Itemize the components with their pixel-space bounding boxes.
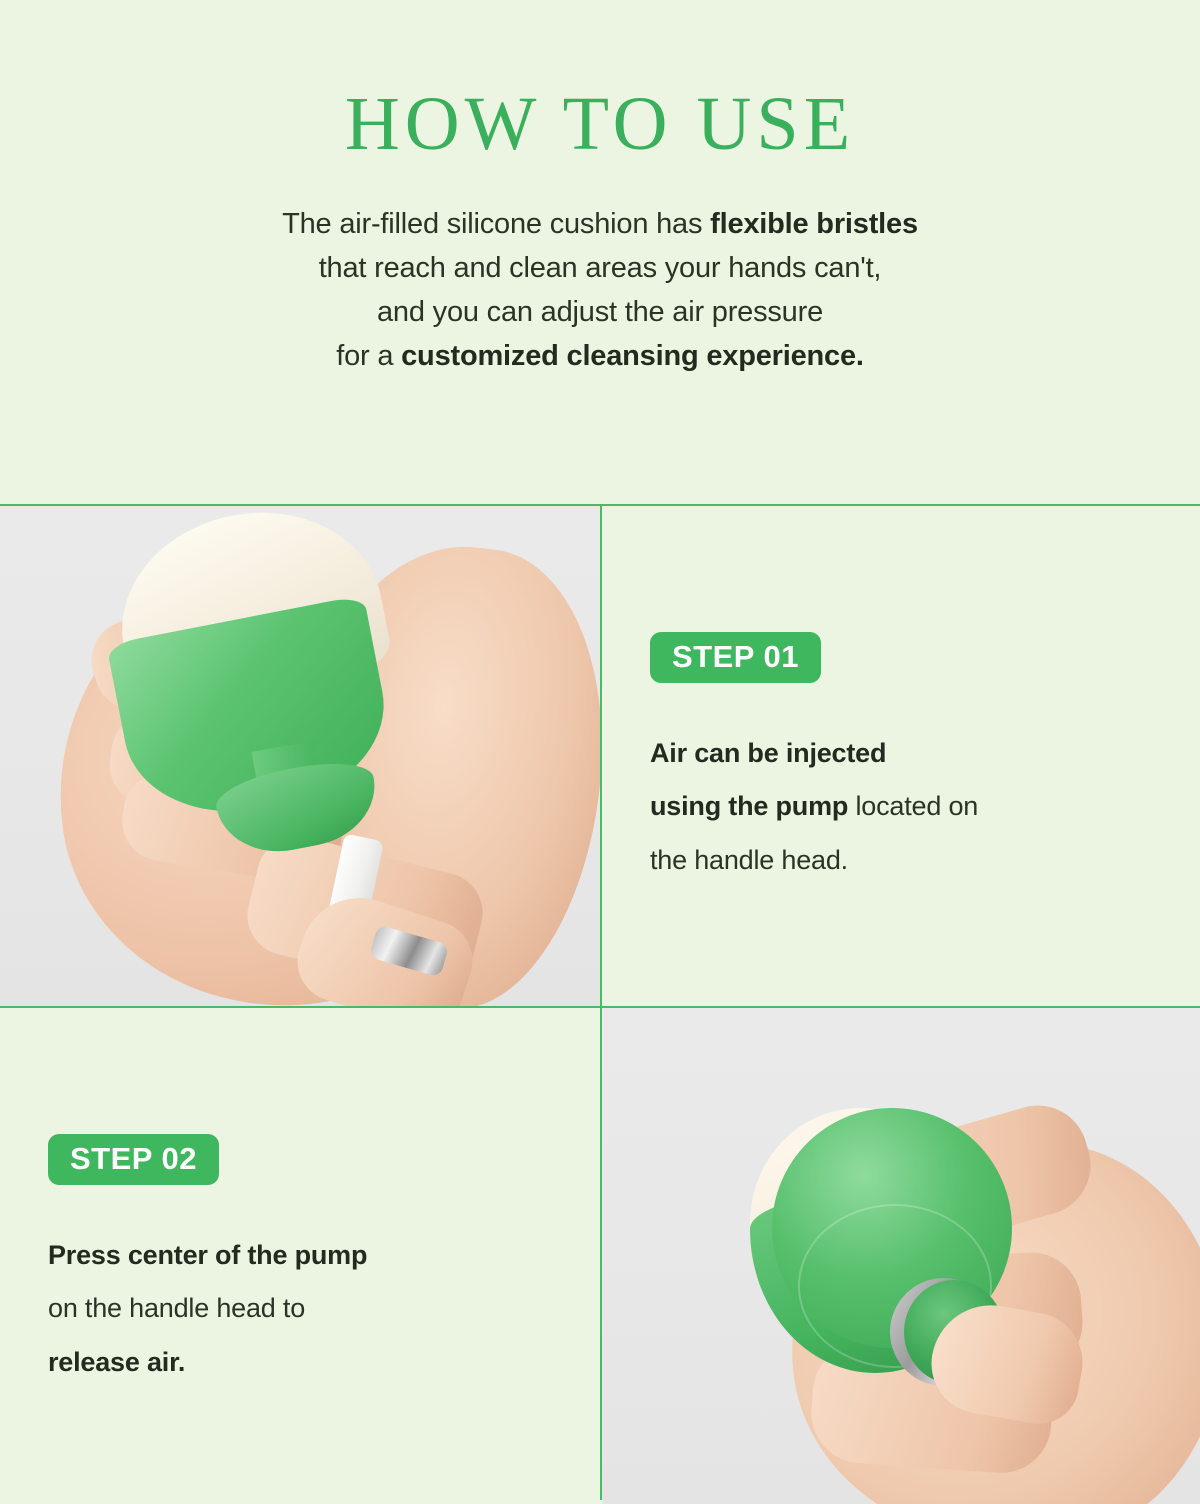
- step-02-badge: STEP 02: [48, 1134, 219, 1185]
- step-02-description: Press center of the pump on the handle h…: [48, 1185, 367, 1389]
- step-02-block: STEP 02 Press center of the pump on the …: [48, 1134, 367, 1389]
- step-01-line-2-bold: using the pump: [650, 791, 848, 821]
- step-01-block: STEP 01 Air can be injected using the pu…: [650, 632, 978, 887]
- step-02-line-1: Press center of the pump: [48, 1240, 367, 1270]
- intro-line-3: and you can adjust the air pressure: [377, 296, 823, 328]
- how-to-use-page: HOW TO USE The air-filled silicone cushi…: [0, 0, 1200, 1500]
- intro-line-4-regular: for a: [336, 340, 401, 372]
- steps-grid: STEP 01 Air can be injected using the pu…: [0, 504, 1200, 1500]
- intro-line-1-regular: The air-filled silicone cushion has: [282, 208, 710, 240]
- step-01-line-3: the handle head.: [650, 845, 848, 875]
- step-02-photo: [602, 1008, 1200, 1504]
- step-01-line-1: Air can be injected: [650, 738, 886, 768]
- header-section: HOW TO USE The air-filled silicone cushi…: [0, 0, 1200, 504]
- step-01-photo-stage: [0, 506, 600, 1006]
- step-02-copy: STEP 02 Press center of the pump on the …: [0, 1008, 600, 1504]
- step-02-line-2: on the handle head to: [48, 1293, 305, 1323]
- step-01-description: Air can be injected using the pump locat…: [650, 683, 978, 887]
- step-02-line-3: release air.: [48, 1347, 185, 1377]
- intro-line-1-bold: flexible bristles: [710, 208, 918, 240]
- intro-line-4-bold: customized cleansing experience.: [401, 340, 864, 372]
- step-01-copy: STEP 01 Air can be injected using the pu…: [602, 506, 1200, 1006]
- intro-paragraph: The air-filled silicone cushion has flex…: [0, 162, 1200, 378]
- step-01-line-2-regular: located on: [848, 791, 978, 821]
- step-01-photo: [0, 506, 600, 1006]
- intro-line-2: that reach and clean areas your hands ca…: [319, 252, 882, 284]
- step-02-photo-stage: [602, 1008, 1200, 1504]
- step-01-badge: STEP 01: [650, 632, 821, 683]
- page-title: HOW TO USE: [0, 0, 1200, 162]
